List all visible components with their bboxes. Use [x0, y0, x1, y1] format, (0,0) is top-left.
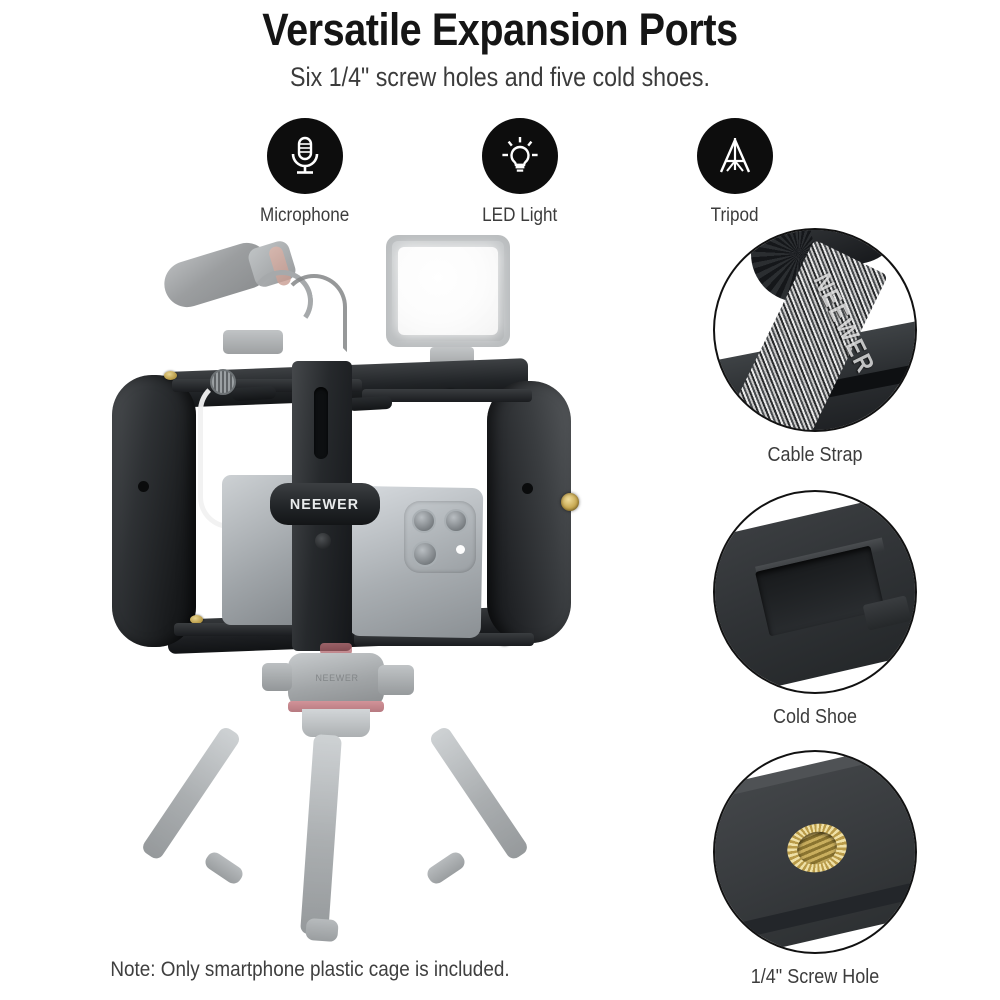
tripod-foot-left	[202, 849, 245, 886]
page-subtitle: Six 1/4" screw holes and five cold shoes…	[70, 62, 930, 93]
badge-disc	[482, 118, 558, 194]
camera-flash	[456, 545, 465, 554]
detail-label: Cable Strap	[667, 444, 964, 467]
mic-shoe-foot	[223, 330, 283, 354]
microphone-icon	[285, 134, 325, 178]
microphone-accessory	[155, 230, 335, 360]
screw-hole-right-edge	[561, 493, 579, 511]
tripod-leg-right	[428, 725, 530, 862]
mic-cable	[281, 274, 347, 352]
cage-right-handle	[487, 381, 571, 643]
footer-note: Note: Only smartphone plastic cage is in…	[31, 958, 589, 982]
camera-lens-2	[444, 509, 468, 533]
detail-circle	[713, 490, 917, 694]
tripod-lock-lever	[378, 665, 414, 695]
badge-tripod: Tripod	[680, 118, 790, 227]
page-title: Versatile Expansion Ports	[60, 4, 940, 56]
clamp-adjust-slot	[314, 387, 328, 459]
badge-disc	[267, 118, 343, 194]
camera-lens-3	[412, 541, 438, 567]
cage-left-handle	[112, 375, 196, 647]
badge-microphone: Microphone	[250, 118, 360, 227]
tripod-leg-left	[140, 725, 242, 862]
detail-label: Cold Shoe	[667, 706, 964, 729]
smartphone-cage: NEEWER	[112, 365, 602, 655]
tripod-pan-lever	[262, 663, 292, 691]
badge-label: LED Light	[482, 205, 557, 227]
detail-label: 1/4" Screw Hole	[667, 966, 964, 989]
badge-label: Tripod	[711, 205, 759, 227]
led-panel	[398, 247, 498, 335]
handle-hole-right	[522, 483, 533, 494]
tripod-icon	[713, 134, 757, 178]
tripod-accessory: NEEWER	[210, 643, 520, 943]
cable-strap-right	[348, 396, 393, 411]
badge-led-light: LED Light	[465, 118, 575, 227]
tripod-foot-center	[305, 918, 338, 942]
camera-lens-1	[412, 509, 436, 533]
accessory-badge-row: Microphone LED Light	[250, 118, 790, 227]
handle-hole-left	[138, 481, 149, 492]
clamp-knob	[315, 533, 331, 549]
badge-disc	[697, 118, 773, 194]
tripod-neck	[302, 709, 370, 737]
detail-cable-strap: NEEWER Cable Strap	[650, 228, 980, 467]
detail-screw-hole: 1/4" Screw Hole	[650, 750, 980, 989]
tripod-brand-label: NEEWER	[302, 673, 372, 683]
tripod-foot-right	[424, 849, 467, 886]
lightbulb-icon	[497, 133, 543, 179]
brand-clamp-tab: NEEWER	[270, 483, 380, 525]
brand-label: NEEWER	[290, 496, 359, 513]
tripod-leg-center	[300, 734, 342, 935]
infographic-page: Versatile Expansion Ports Six 1/4" screw…	[0, 0, 1000, 1000]
detail-circle	[713, 750, 917, 954]
detail-circle: NEEWER	[713, 228, 917, 432]
detail-cold-shoe: Cold Shoe	[650, 490, 980, 729]
product-photo: NEEWER NEEWER	[60, 225, 660, 945]
badge-label: Microphone	[260, 205, 349, 227]
